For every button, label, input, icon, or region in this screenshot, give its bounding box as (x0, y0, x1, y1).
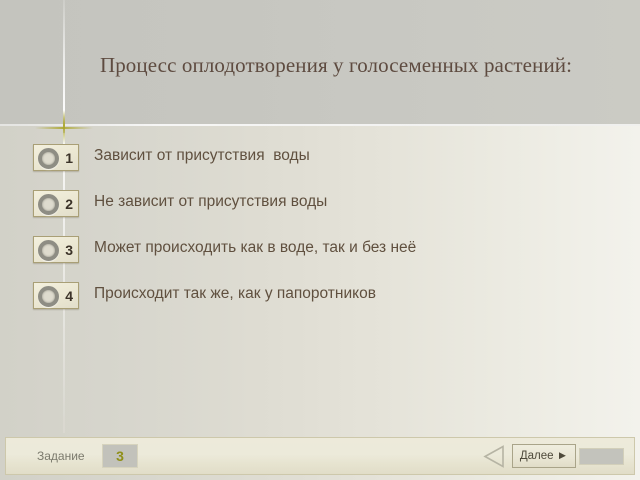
answer-option-label-3: Может происходить как в воде, так и без … (94, 235, 416, 261)
answer-option-2[interactable]: 2 Не зависит от присутствия воды (0, 186, 640, 232)
answer-option-label-1: Зависит от присутствия воды (94, 143, 310, 169)
radio-number-2: 2 (65, 195, 73, 214)
answer-option-4[interactable]: 4 Происходит так же, как у папоротников (0, 278, 640, 324)
answer-option-label-2: Не зависит от присутствия воды (94, 189, 327, 215)
radio-button-3[interactable]: 3 (33, 236, 79, 263)
task-number-box: 3 (102, 444, 138, 468)
answer-option-label-4: Происходит так же, как у папоротников (94, 281, 376, 307)
answer-option-3[interactable]: 3 Может происходить как в воде, так и бе… (0, 232, 640, 278)
crosshair-vertical-icon (63, 110, 65, 144)
radio-ring-icon (38, 194, 59, 215)
task-number-value: 3 (116, 448, 124, 464)
radio-number-4: 4 (65, 287, 73, 306)
vertical-guide-line-upper (63, 0, 65, 126)
radio-button-2[interactable]: 2 (33, 190, 79, 217)
radio-ring-icon (38, 240, 59, 261)
next-button[interactable]: Далее ► (512, 444, 576, 468)
task-label: Задание (37, 449, 85, 463)
radio-button-4[interactable]: 4 (33, 282, 79, 309)
radio-number-1: 1 (65, 149, 73, 168)
horizontal-divider (0, 124, 640, 126)
radio-ring-icon (38, 286, 59, 307)
answer-option-1[interactable]: 1 Зависит от присутствия воды (0, 140, 640, 186)
radio-button-1[interactable]: 1 (33, 144, 79, 171)
answer-options-list: 1 Зависит от присутствия воды 2 Не завис… (0, 140, 640, 324)
quiz-slide: Процесс оплодотворения у голосеменных ра… (0, 0, 640, 480)
radio-ring-icon (38, 148, 59, 169)
page-title: Процесс оплодотворения у голосеменных ра… (96, 50, 576, 80)
next-button-label: Далее ► (520, 450, 568, 462)
radio-number-3: 3 (65, 241, 73, 260)
bottom-toolbar: Задание 3 Далее ► (5, 437, 635, 475)
triangle-left-icon[interactable] (483, 445, 505, 468)
score-box (579, 448, 624, 465)
